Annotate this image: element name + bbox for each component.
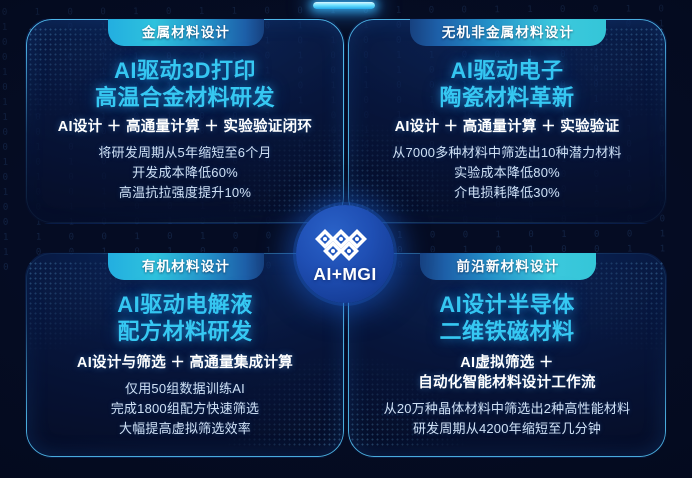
card-detail: 开发成本降低60% xyxy=(26,163,344,183)
card-detail: 将研发周期从5年缩短至6个月 xyxy=(26,143,344,163)
card-detail: 仅用50组数据训练AI xyxy=(26,379,344,399)
card-subheading: AI设计与筛选 ＋ 高通量集成计算 xyxy=(26,353,344,373)
card-heading-line1: AI驱动电子 xyxy=(348,57,666,84)
center-logo-badge[interactable]: AI+MGI xyxy=(296,205,394,303)
card-heading-line2: 陶瓷材料革新 xyxy=(348,84,666,111)
card-tab-frontier: 前沿新材料设计 xyxy=(420,253,596,280)
card-detail: 介电损耗降低30% xyxy=(348,183,666,203)
card-metal[interactable]: 金属材料设计 AI驱动3D打印 高温合金材料研发 AI设计 ＋ 高通量计算 ＋ … xyxy=(25,18,345,224)
card-organic[interactable]: 有机材料设计 AI驱动电解液 配方材料研发 AI设计与筛选 ＋ 高通量集成计算 … xyxy=(25,252,345,458)
card-detail: 大幅提高虚拟筛选效率 xyxy=(26,419,344,439)
card-detail: 研发周期从4200年缩短至几分钟 xyxy=(348,419,666,439)
card-heading-line1: AI设计半导体 xyxy=(348,291,666,318)
card-heading-line1: AI驱动3D打印 xyxy=(26,57,344,84)
card-detail: 从20万种晶体材料中筛选出2种高性能材料 xyxy=(348,399,666,419)
card-heading-line2: 配方材料研发 xyxy=(26,318,344,345)
card-frontier[interactable]: 前沿新材料设计 AI设计半导体 二维铁磁材料 AI虚拟筛选 ＋ 自动化智能材料设… xyxy=(347,252,667,458)
center-logo-label: AI+MGI xyxy=(313,264,376,285)
card-heading-line2: 高温合金材料研发 xyxy=(26,84,344,111)
card-tab-organic: 有机材料设计 xyxy=(108,253,264,280)
card-tab-metal: 金属材料设计 xyxy=(108,19,264,46)
card-heading-line2: 二维铁磁材料 xyxy=(348,318,666,345)
card-subheading: 自动化智能材料设计工作流 xyxy=(348,373,666,393)
card-heading-line1: AI驱动电解液 xyxy=(26,291,344,318)
card-tab-inorganic-nonmetal: 无机非金属材料设计 xyxy=(410,19,606,46)
mgi-chain-diamond-logo-icon xyxy=(313,223,377,261)
card-detail: 完成1800组配方快速筛选 xyxy=(26,399,344,419)
card-detail: 高温抗拉强度提升10% xyxy=(26,183,344,203)
infographic-canvas: 0 1 0 0 1 0 1 1 0 0 1 0 1 0 0 1 1 0 0 1 … xyxy=(0,0,692,478)
card-detail: 实验成本降低80% xyxy=(348,163,666,183)
card-subheading: AI设计 ＋ 高通量计算 ＋ 实验验证闭环 xyxy=(26,117,344,137)
card-inorganic-nonmetal[interactable]: 无机非金属材料设计 AI驱动电子 陶瓷材料革新 AI设计 ＋ 高通量计算 ＋ 实… xyxy=(347,18,667,224)
card-detail: 从7000多种材料中筛选出10种潜力材料 xyxy=(348,143,666,163)
card-subheading: AI虚拟筛选 ＋ xyxy=(348,353,666,373)
glow-bar-accent-icon xyxy=(313,2,375,9)
card-subheading: AI设计 ＋ 高通量计算 ＋ 实验验证 xyxy=(348,117,666,137)
